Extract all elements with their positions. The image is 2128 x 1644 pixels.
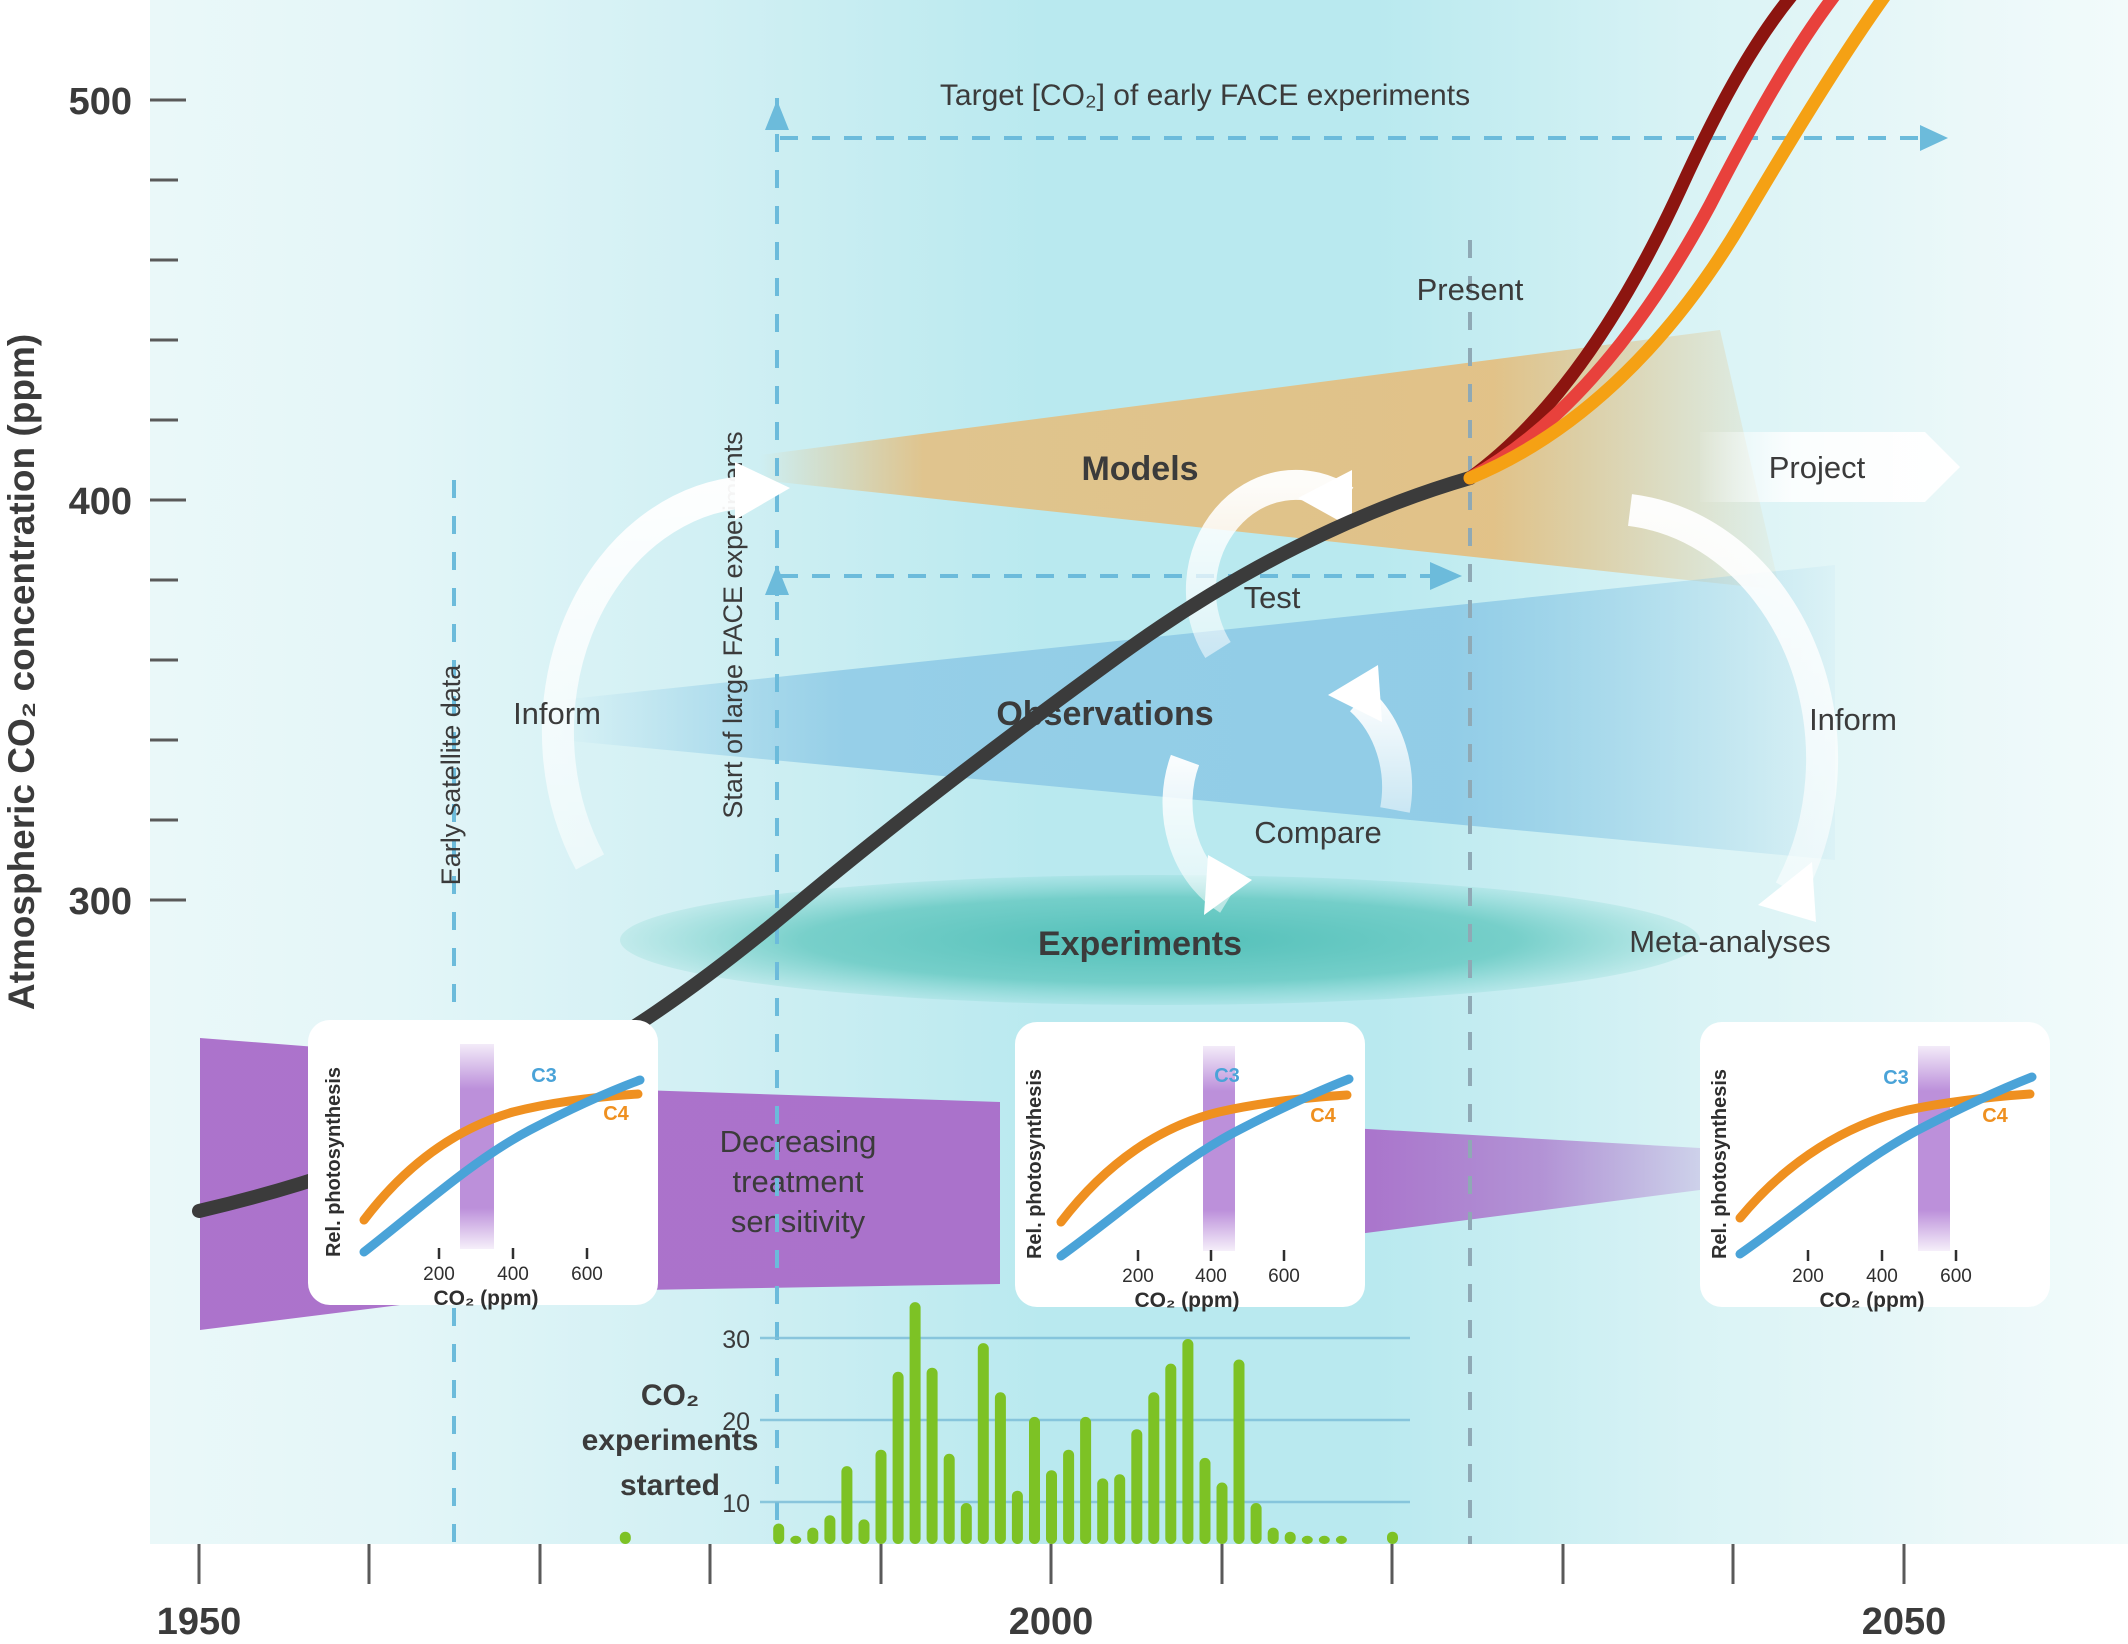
inset-photosynthesis-2: C3 C4 200 400 600 CO₂ (ppm) Rel. photosy… [1015, 1022, 1365, 1312]
bar-item [841, 1466, 852, 1544]
bar-item [1114, 1474, 1125, 1544]
inset-3-xtick-600: 600 [1940, 1266, 1972, 1287]
bar-item [1063, 1450, 1074, 1544]
test-label: Test [1244, 580, 1301, 615]
bar-item [1012, 1491, 1023, 1544]
bar-chart-title-line2: experiments [582, 1424, 759, 1457]
models-band-label: Models [1081, 450, 1198, 488]
bar-item [1319, 1536, 1330, 1544]
purple-wedge-label-line3: sensitivity [731, 1204, 866, 1239]
inset-3-xtick-400: 400 [1866, 1266, 1898, 1287]
y-tick-400: 400 [69, 481, 132, 523]
present-label: Present [1417, 272, 1524, 307]
bar-item [893, 1372, 904, 1544]
bar-item [1165, 1364, 1176, 1544]
inset-2-c3-label: C3 [1214, 1065, 1240, 1087]
inset-2-xtick-400: 400 [1195, 1266, 1227, 1287]
x-axis: 1950 2000 2050 [157, 1544, 1947, 1643]
bar-item [1131, 1429, 1142, 1544]
project-label: Project [1769, 450, 1866, 485]
inset-2-ylabel: Rel. photosynthesis [1024, 1069, 1046, 1259]
bar-chart-title-line3: started [620, 1469, 720, 1502]
bar-item [1080, 1417, 1091, 1544]
bar-item [1200, 1458, 1211, 1544]
bar-item [927, 1368, 938, 1544]
bar-item [961, 1503, 972, 1544]
inset-2-xtick-600: 600 [1268, 1266, 1300, 1287]
inset-3-c4-label: C4 [1982, 1105, 2008, 1127]
target-face-label: Target [CO₂] of early FACE experiments [940, 79, 1470, 112]
bar-item [1029, 1417, 1040, 1544]
bar-item [1336, 1536, 1347, 1544]
inset-1-c3-label: C3 [531, 1065, 557, 1087]
project-banner-arrow: Project [1700, 432, 1960, 502]
inform-left-label: Inform [513, 696, 601, 731]
y-axis-label: Atmospheric CO₂ concentration (ppm) [1, 334, 42, 1010]
y-tick-500: 500 [69, 81, 132, 123]
bar-item [790, 1536, 801, 1544]
inset-2-xlabel: CO₂ (ppm) [1135, 1289, 1240, 1312]
inset-1-ylabel: Rel. photosynthesis [323, 1067, 345, 1257]
inset-1-xtick-600: 600 [571, 1264, 603, 1285]
bar-item [1148, 1392, 1159, 1544]
compare-label: Compare [1254, 815, 1382, 850]
inset-2-c4-label: C4 [1310, 1105, 1336, 1127]
co2-research-cycle-figure: Atmospheric CO₂ concentration (ppm) 500 … [0, 0, 2128, 1644]
bar-item [807, 1528, 818, 1544]
bar-item [978, 1343, 989, 1544]
inset-3-xlabel: CO₂ (ppm) [1820, 1289, 1925, 1312]
inset-3-xtick-200: 200 [1792, 1266, 1824, 1287]
early-satellite-label: Early satellite data [436, 664, 466, 886]
bar-item [620, 1532, 631, 1544]
bar-item [773, 1524, 784, 1545]
bar-item [859, 1519, 870, 1544]
bar-ytick-10: 10 [722, 1490, 750, 1518]
bar-item [1285, 1532, 1296, 1544]
bar-item [824, 1515, 835, 1544]
x-tick-1950: 1950 [157, 1601, 242, 1643]
bar-item [995, 1392, 1006, 1544]
purple-wedge-middle: Decreasing treatment sensitivity [640, 1090, 1000, 1290]
bar-item [1046, 1470, 1057, 1544]
bar-item [876, 1450, 887, 1544]
x-tick-2000: 2000 [1009, 1601, 1094, 1643]
inset-3-c3-label: C3 [1883, 1067, 1909, 1089]
bar-ytick-30: 30 [722, 1326, 750, 1354]
inset-1-xtick-400: 400 [497, 1264, 529, 1285]
inset-1-c4-label: C4 [603, 1103, 629, 1125]
bar-item [1234, 1360, 1245, 1545]
bar-item [1217, 1483, 1228, 1545]
x-tick-2050: 2050 [1862, 1601, 1947, 1643]
y-tick-300: 300 [69, 881, 132, 923]
bar-item [1302, 1536, 1313, 1544]
experiments-band-label: Experiments [1038, 925, 1242, 963]
bar-item [1387, 1532, 1398, 1544]
bar-item [1097, 1478, 1108, 1544]
inform-right-label: Inform [1809, 702, 1897, 737]
bar-item [1251, 1503, 1262, 1544]
inset-1-xlabel: CO₂ (ppm) [434, 1287, 539, 1310]
bar-item [944, 1454, 955, 1544]
inset-1-xtick-200: 200 [423, 1264, 455, 1285]
inset-2-xtick-200: 200 [1122, 1266, 1154, 1287]
inset-photosynthesis-3: C3 C4 200 400 600 CO₂ (ppm) Rel. photosy… [1700, 1022, 2050, 1312]
inset-3-band [1918, 1046, 1950, 1251]
figure-root: Atmospheric CO₂ concentration (ppm) 500 … [0, 0, 2128, 1644]
purple-wedge-label-line1: Decreasing [720, 1124, 877, 1159]
inset-photosynthesis-1: C3 C4 200 400 600 CO₂ (ppm) Rel. photosy… [308, 1020, 658, 1310]
bar-chart-title-line1: CO₂ [641, 1379, 699, 1412]
inset-3-ylabel: Rel. photosynthesis [1709, 1069, 1731, 1259]
bar-item [1182, 1339, 1193, 1544]
meta-analyses-label: Meta-analyses [1629, 924, 1831, 959]
bar-item [1268, 1528, 1279, 1544]
bar-item [910, 1302, 921, 1544]
purple-wedge-label-line2: treatment [733, 1164, 864, 1199]
inset-1-band [460, 1044, 494, 1249]
